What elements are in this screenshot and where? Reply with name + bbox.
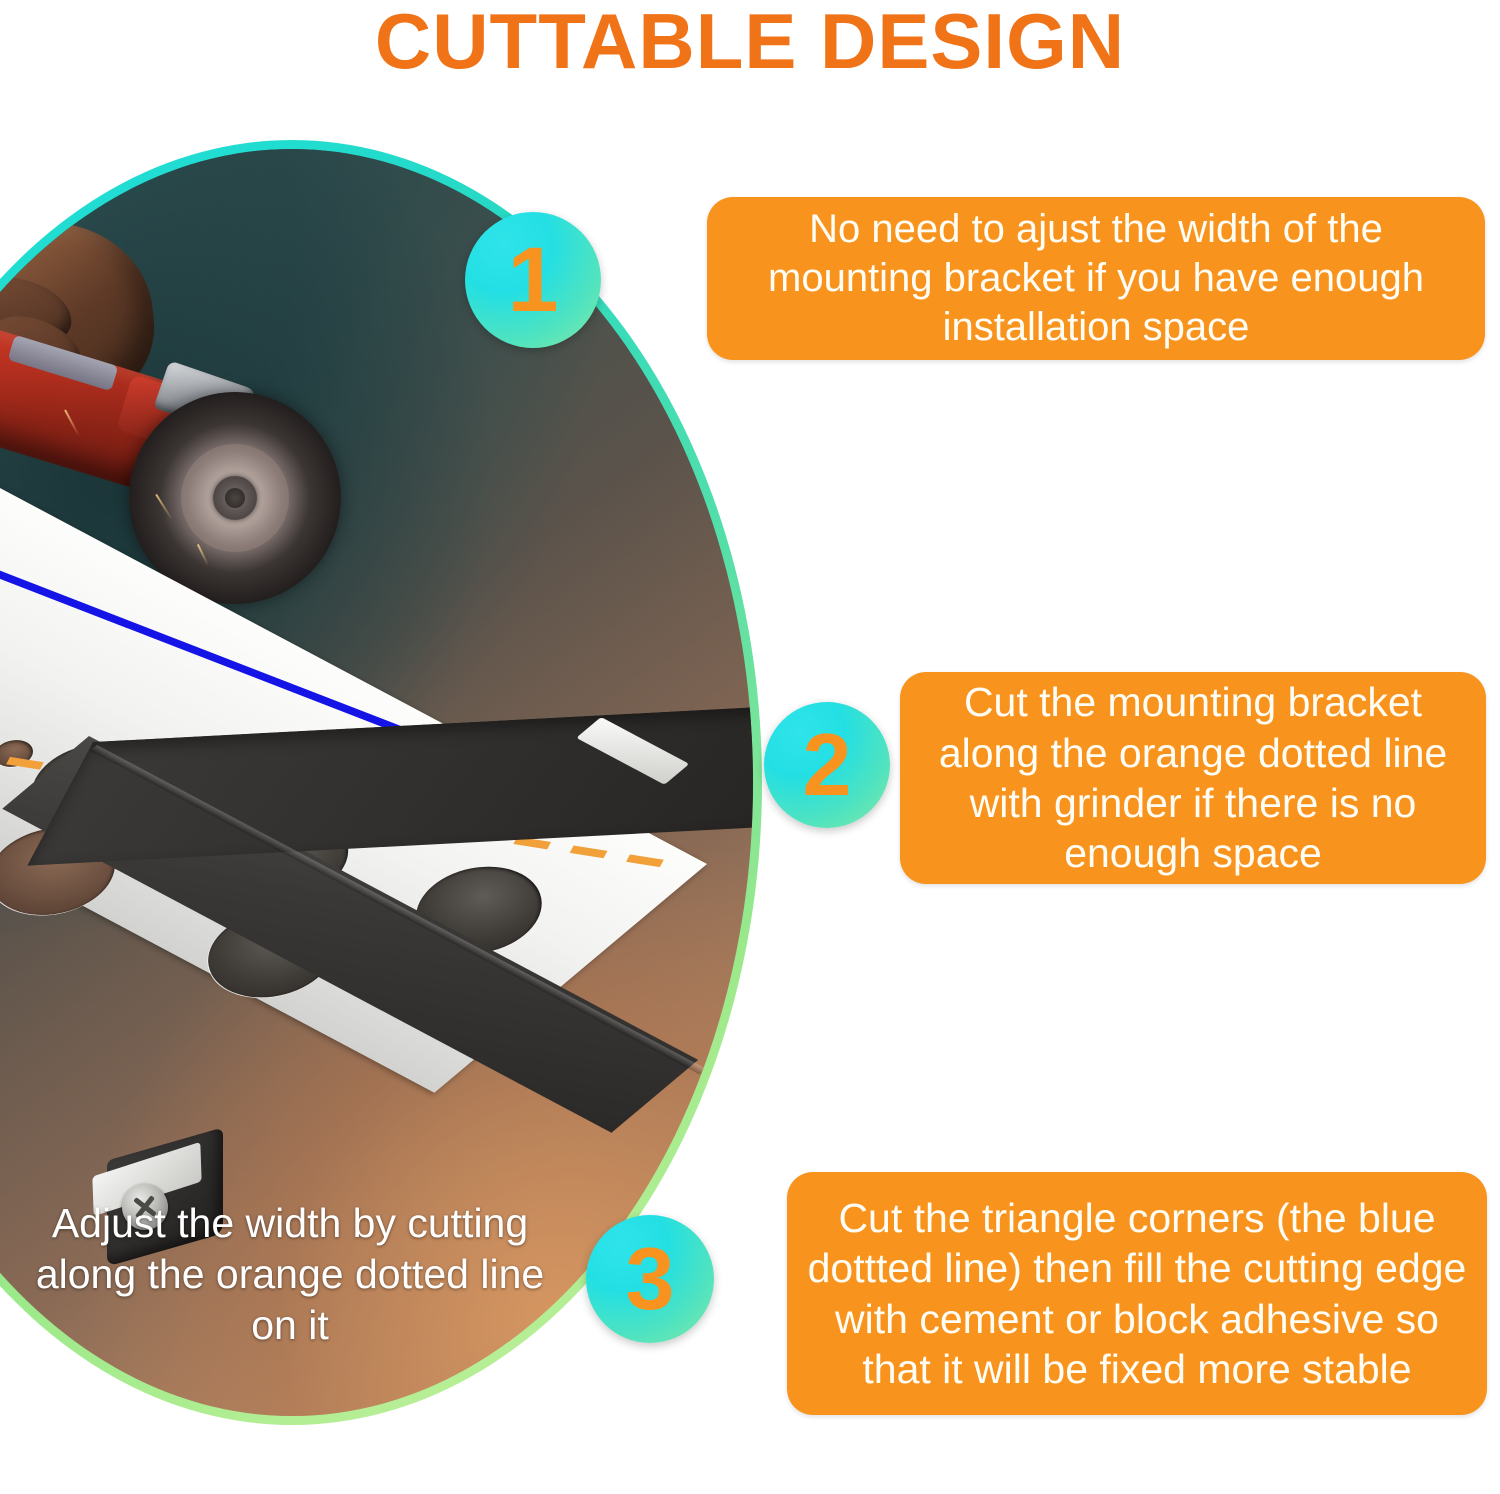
blue-cut-line-left	[0, 572, 12, 760]
step-callout-3: Cut the triangle corners (the blue dottt…	[787, 1172, 1487, 1415]
bracket-small-hole	[0, 735, 41, 772]
grinder-disc	[129, 392, 341, 604]
photo-caption: Adjust the width by cutting along the or…	[10, 1198, 570, 1350]
step-callout-1: No need to ajust the width of the mounti…	[707, 197, 1485, 360]
step-callout-2: Cut the mounting bracket along the orang…	[900, 672, 1486, 884]
step-badge-1: 1	[465, 212, 601, 348]
disc-hub-center	[225, 488, 245, 508]
step-badge-3: 3	[586, 1215, 714, 1343]
page-title: CUTTABLE DESIGN	[0, 0, 1500, 87]
step-badge-2: 2	[764, 702, 890, 828]
